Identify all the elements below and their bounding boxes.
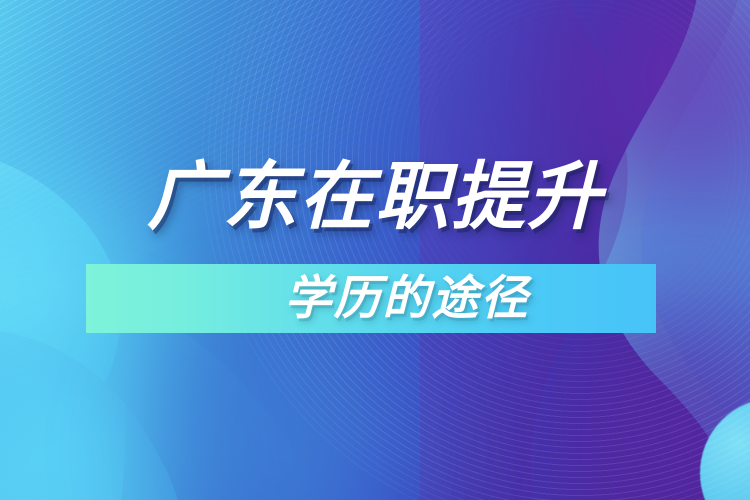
subtitle-bar: 学历的途径 <box>86 264 656 333</box>
wave-violet-fold <box>420 0 628 500</box>
banner-title: 广东在职提升 <box>0 152 750 242</box>
background-wave-graphic <box>0 0 750 500</box>
promo-banner: 广东在职提升 学历的途径 <box>0 0 750 500</box>
banner-subtitle: 学历的途径 <box>285 270 530 326</box>
